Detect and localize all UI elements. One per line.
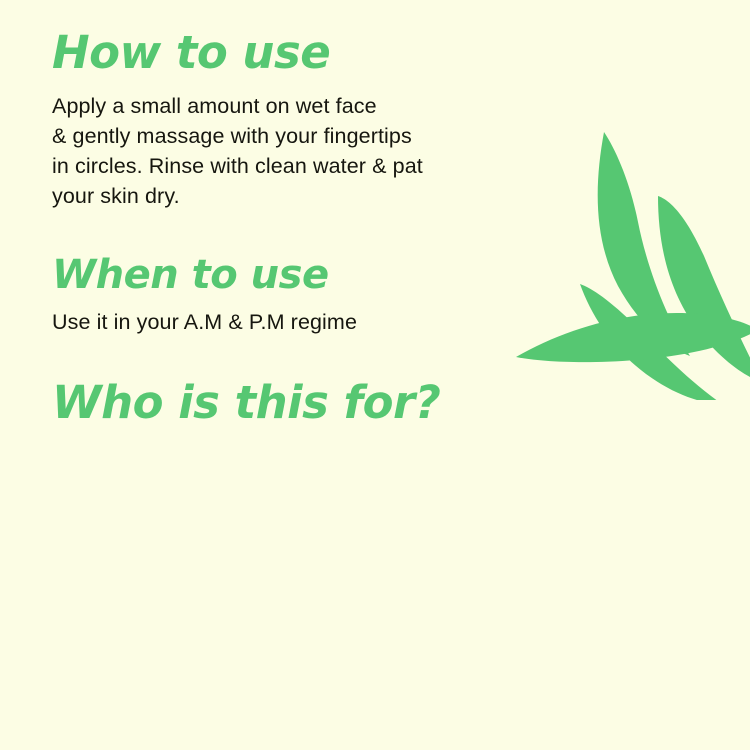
body-line: your skin dry. xyxy=(52,181,423,211)
section-when-to-use: When to use Use it in your A.M & P.M reg… xyxy=(52,255,357,337)
body-line: Use it in your A.M & P.M regime xyxy=(52,307,357,337)
body-line: Apply a small amount on wet face xyxy=(52,91,423,121)
heading-when-to-use: When to use xyxy=(52,255,357,295)
when-to-use-body: Use it in your A.M & P.M regime xyxy=(52,307,357,337)
heading-how-to-use: How to use xyxy=(52,30,423,75)
heading-who-is-this-for: Who is this for? xyxy=(52,380,440,425)
how-to-use-body: Apply a small amount on wet face & gentl… xyxy=(52,91,423,211)
body-line: in circles. Rinse with clean water & pat xyxy=(52,151,423,181)
section-who-is-this-for: Who is this for? Skin Type Acne prone sk… xyxy=(52,380,440,425)
section-how-to-use: How to use Apply a small amount on wet f… xyxy=(52,30,423,211)
leaf-cluster-icon xyxy=(490,0,750,400)
body-line: & gently massage with your fingertips xyxy=(52,121,423,151)
infographic-poster: How to use Apply a small amount on wet f… xyxy=(0,0,750,750)
